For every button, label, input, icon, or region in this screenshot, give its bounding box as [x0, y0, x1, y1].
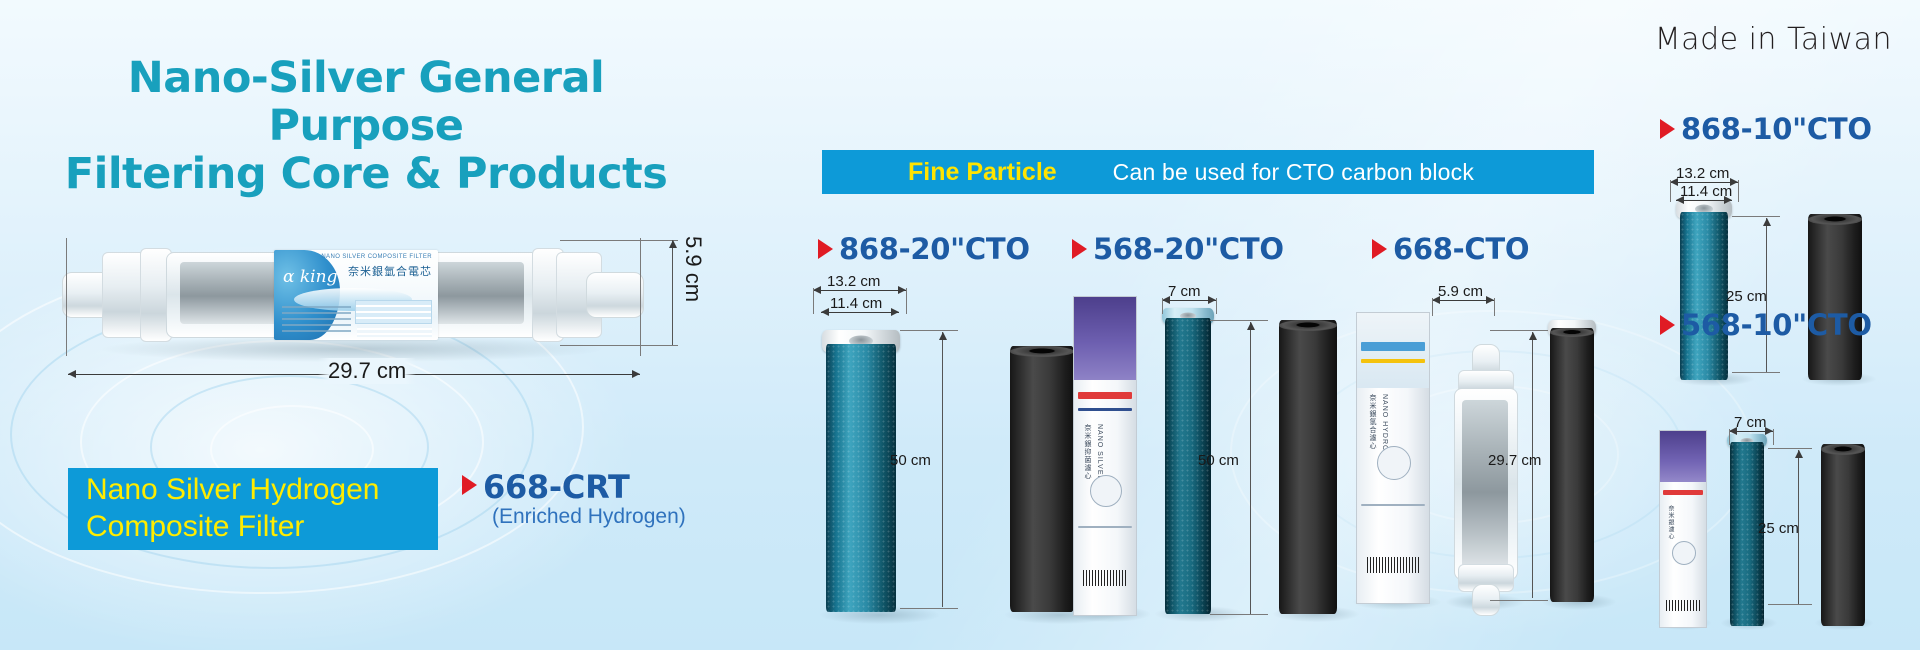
dim-tick [1768, 604, 1812, 605]
dimension-label: 50 cm [1198, 452, 1239, 469]
dim-tick [813, 288, 814, 314]
product-wrap-label: α king NANO SILVER COMPOSITE FILTER 奈米銀氫… [274, 250, 438, 340]
dimension-line [813, 290, 906, 291]
dim-tick [1490, 330, 1548, 331]
dimension-line [1432, 300, 1494, 301]
promo-line1: Nano Silver Hydrogen [86, 472, 438, 509]
product-image-668-crt: α king NANO SILVER COMPOSITE FILTER 奈米銀氫… [62, 228, 642, 358]
dim-tick [1216, 298, 1217, 314]
triangle-bullet-icon [818, 239, 833, 259]
triangle-bullet-icon [1660, 119, 1675, 139]
product-code-868-20-cto: 868-20"CTO [818, 232, 1030, 266]
product-code-568-10-cto: 568-10"CTO [1660, 308, 1872, 342]
dimension-label: 13.2 cm [1676, 165, 1729, 182]
dimension-label: 50 cm [890, 452, 931, 469]
product-code-text: 568-10"CTO [1681, 308, 1872, 342]
product-code-text: 568-20"CTO [1093, 232, 1284, 266]
dimension-line [942, 332, 943, 607]
dimension-line-diameter [672, 240, 673, 345]
dimension-label: 29.7 cm [1488, 452, 1541, 469]
dimension-line [1162, 300, 1216, 301]
product-code-text: 868-10"CTO [1681, 112, 1872, 146]
dimension-label: 11.4 cm [830, 295, 882, 312]
fine-particle-banner: Fine Particle Can be used for CTO carbon… [822, 150, 1594, 194]
dimension-line [1250, 322, 1251, 614]
dimension-label: 5.9 cm [1438, 283, 1483, 300]
triangle-bullet-icon [1660, 315, 1675, 335]
dim-tick [66, 238, 67, 356]
retail-box: 奈米銀抑菌濾心 NANO SILVER CTO [1073, 296, 1137, 616]
dim-tick [900, 608, 958, 609]
catalog-banner: Made in Taiwan Nano-Silver General Purpo… [0, 0, 1920, 650]
dimension-label: 11.4 cm [1680, 183, 1732, 200]
dim-tick [906, 288, 907, 314]
page-title-line2: Filtering Core & Products [56, 150, 676, 198]
dim-tick [1768, 448, 1812, 449]
dimension-line [821, 312, 899, 313]
page-title: Nano-Silver General Purpose Filtering Co… [56, 54, 676, 198]
product-code-note-668-crt: (Enriched Hydrogen) [492, 505, 686, 529]
retail-box: 奈米銀濾心 [1659, 430, 1707, 628]
dim-tick [1732, 216, 1780, 217]
dim-tick [1738, 180, 1739, 202]
brand-name: α king [283, 267, 337, 287]
dim-tick [1773, 429, 1774, 445]
dimension-label: 7 cm [1734, 414, 1767, 431]
dim-tick [1490, 600, 1548, 601]
dim-tick [1729, 429, 1730, 445]
made-in-taiwan-label: Made in Taiwan [1655, 22, 1892, 57]
dimension-label-length: 29.7 cm [318, 358, 416, 384]
dim-tick [900, 330, 958, 331]
product-code-text: 668-CRT [483, 468, 630, 506]
dim-tick [560, 345, 678, 346]
product-code-668-cto: 668-CTO [1372, 232, 1529, 266]
triangle-bullet-icon [462, 475, 477, 495]
dimension-label: 25 cm [1758, 520, 1799, 537]
dim-tick [1670, 180, 1671, 202]
dim-tick [1432, 298, 1433, 316]
dim-tick [640, 238, 641, 356]
dimension-label: 7 cm [1168, 283, 1201, 300]
banner-strong-text: Fine Particle [908, 158, 1057, 187]
dimension-label-diameter: 5.9 cm [680, 236, 706, 302]
dim-tick [1732, 372, 1780, 373]
product-code-568-20-cto: 568-20"CTO [1072, 232, 1284, 266]
promo-line2: Composite Filter [86, 509, 438, 546]
banner-sub-text: Can be used for CTO carbon block [1113, 159, 1474, 186]
product-code-668-crt: 668-CRT [462, 468, 630, 506]
product-code-text: 668-CTO [1393, 232, 1529, 266]
retail-box: 奈米銀氫合濾心 NANO HYDROGEN [1356, 312, 1430, 604]
page-title-line1: Nano-Silver General Purpose [56, 54, 676, 150]
dim-tick [560, 240, 678, 241]
dim-tick [1162, 298, 1163, 314]
dim-tick [1210, 614, 1268, 615]
promo-banner: Nano Silver Hydrogen Composite Filter [68, 468, 438, 550]
triangle-bullet-icon [1072, 239, 1087, 259]
dim-tick [1210, 320, 1268, 321]
dim-tick [1494, 298, 1495, 316]
dimension-label: 25 cm [1726, 288, 1767, 305]
triangle-bullet-icon [1372, 239, 1387, 259]
dimension-line [1729, 431, 1773, 432]
product-code-868-10-cto: 868-10"CTO [1660, 112, 1872, 146]
product-code-text: 868-20"CTO [839, 232, 1030, 266]
dimension-line [1676, 200, 1732, 201]
dimension-label: 13.2 cm [827, 273, 880, 290]
